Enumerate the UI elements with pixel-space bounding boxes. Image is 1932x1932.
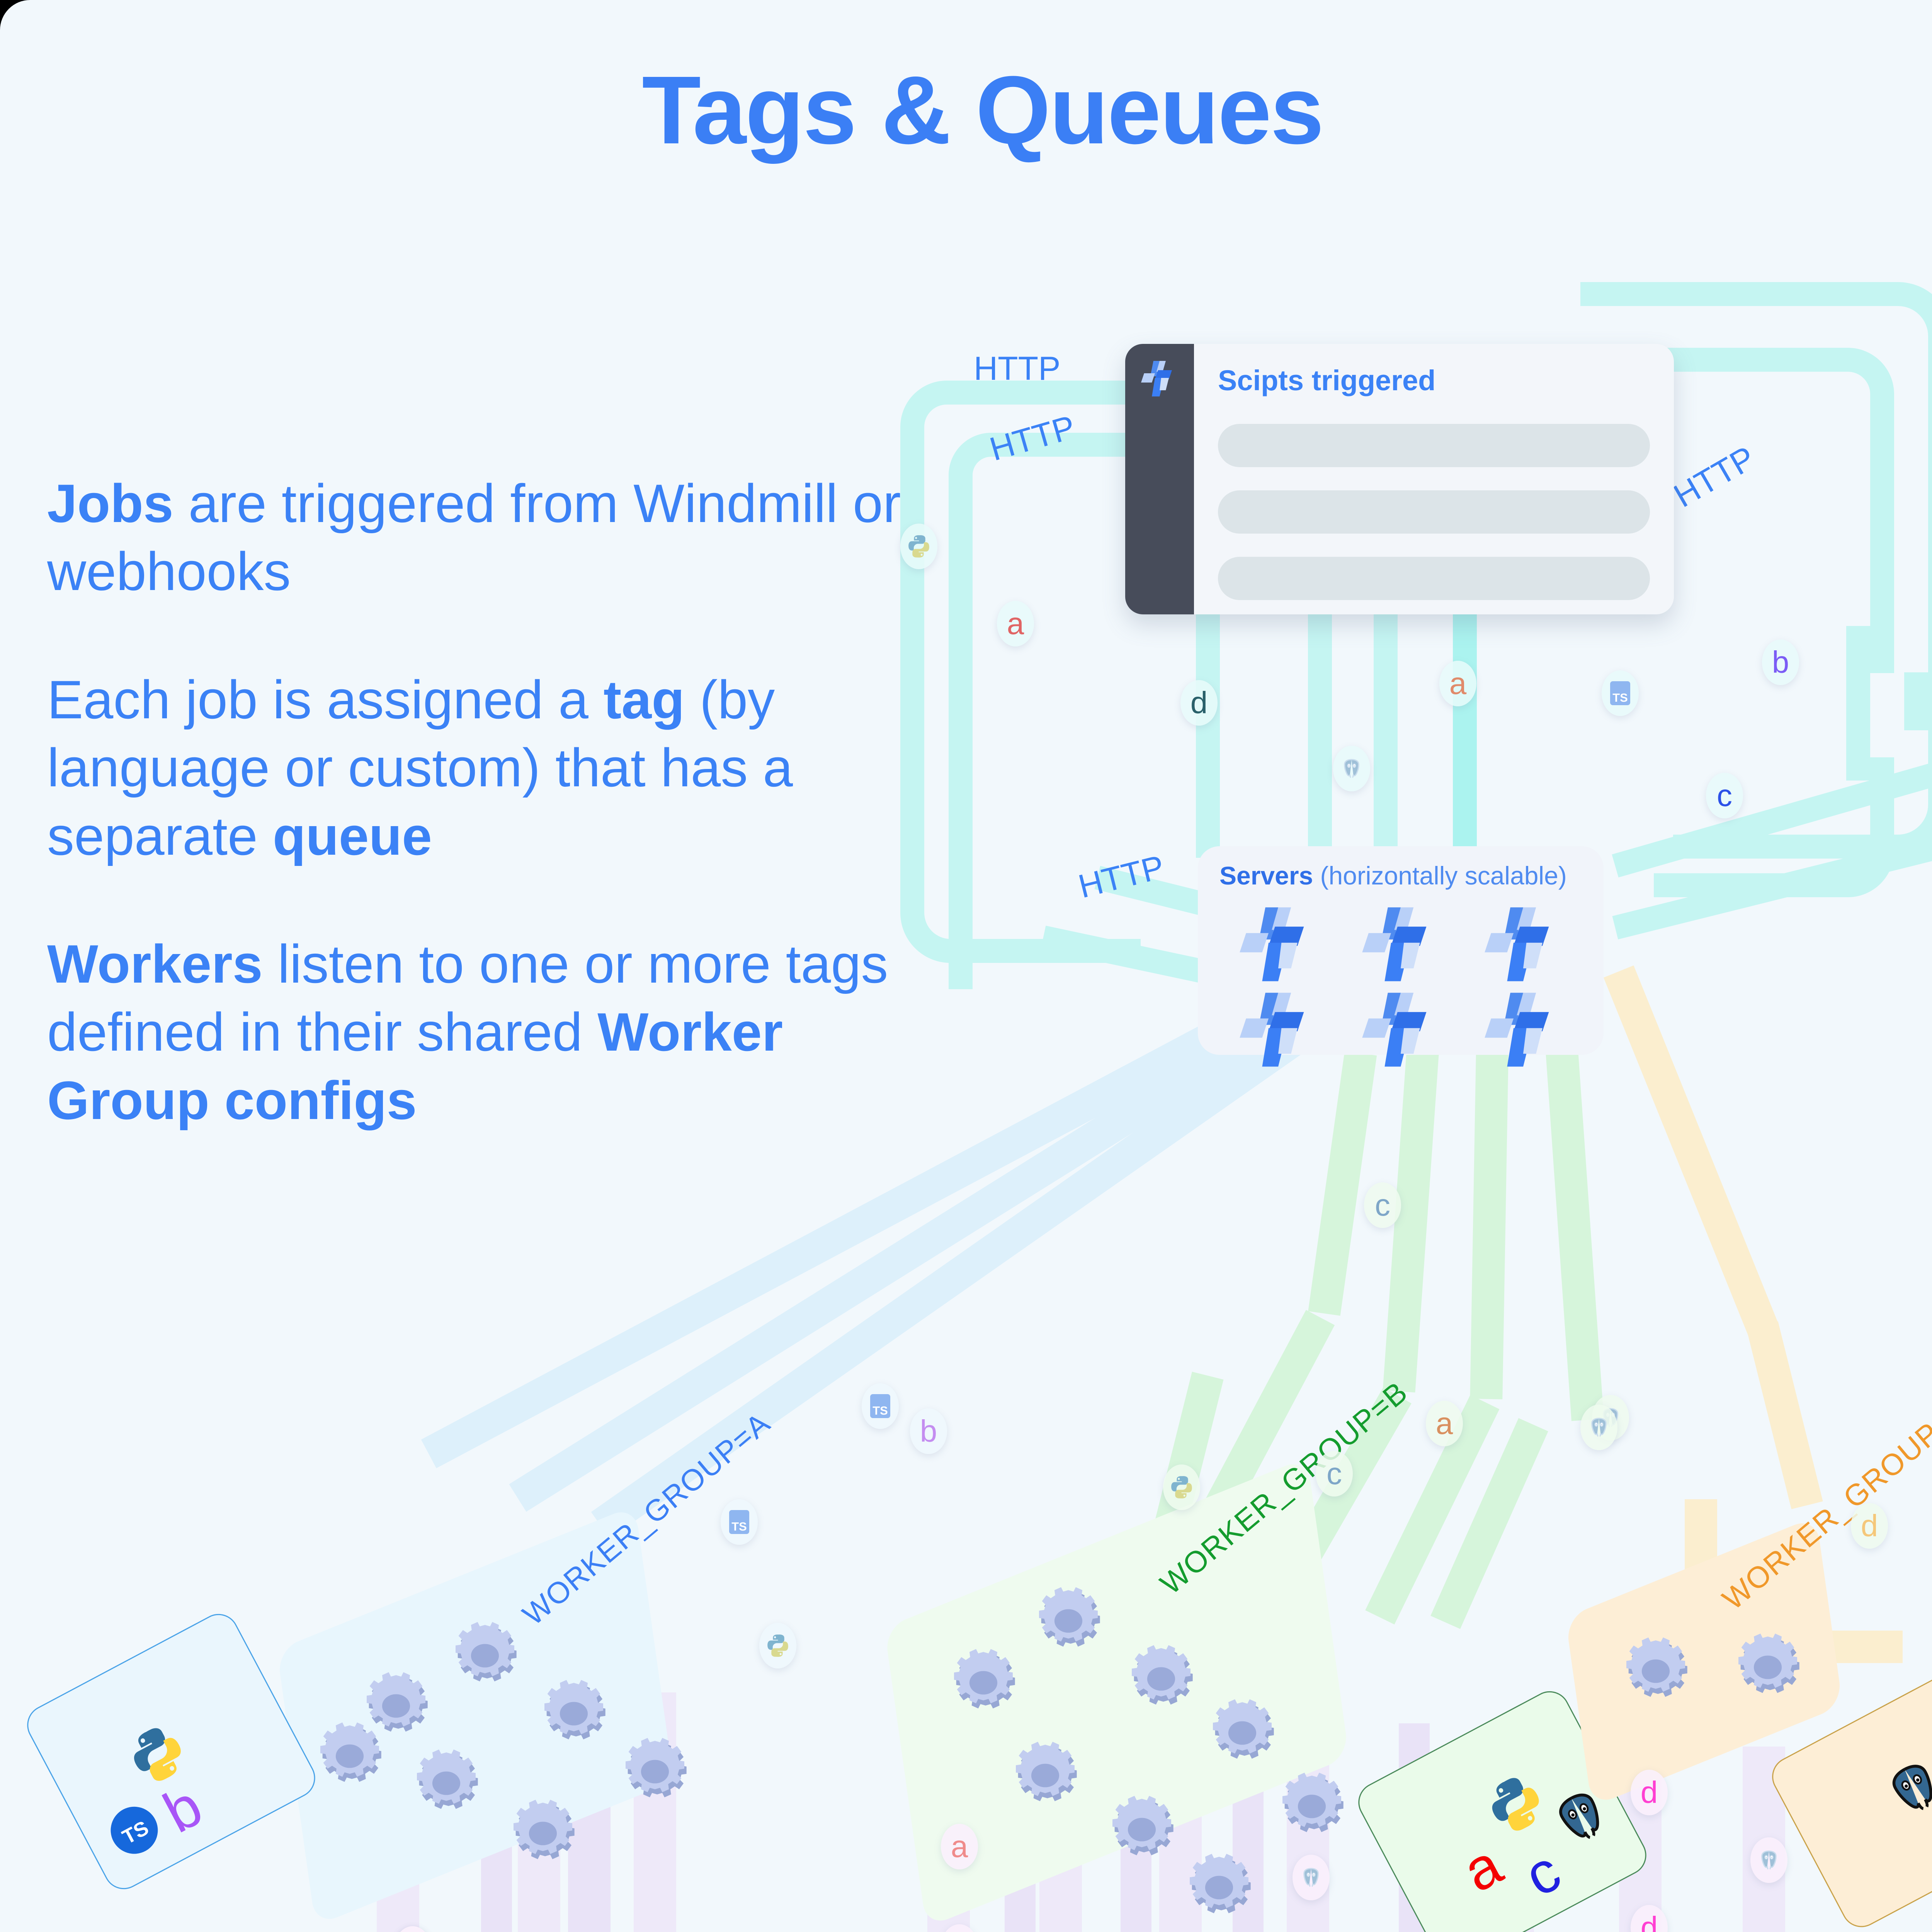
servers-panel: Servers (horizontally scalable) — [1198, 846, 1604, 1055]
card-skeleton-row — [1218, 424, 1650, 467]
badge-b2: b — [910, 1408, 947, 1454]
badge-postgres — [1333, 746, 1370, 791]
typescript-icon: TS — [1610, 681, 1630, 705]
pipe-cyan-right-inner — [1638, 348, 1894, 673]
server-logo — [1485, 990, 1562, 1075]
worker-gear — [618, 1735, 680, 1797]
pipe-cyan-center-2 — [1308, 607, 1332, 862]
postgres-icon — [1876, 1749, 1932, 1828]
servers-title-bold: Servers — [1219, 861, 1313, 890]
pipe-green-b-4 — [1546, 1049, 1604, 1421]
windmill-logo-icon — [1240, 904, 1317, 988]
gear-icon — [947, 1646, 1020, 1719]
copy-gap-2 — [47, 870, 905, 930]
page-title: Tags & Queues — [0, 62, 1932, 158]
badge-a: a — [997, 601, 1034, 646]
gear-icon — [1124, 1642, 1198, 1716]
server-logo — [1240, 904, 1317, 990]
gear-icon — [537, 1677, 611, 1750]
gear-icon — [618, 1735, 692, 1808]
gear-icon — [1009, 1739, 1082, 1812]
python-icon — [906, 534, 932, 559]
server-logo — [1485, 904, 1562, 990]
copy-2-queue: queue — [273, 806, 432, 866]
copy-gap-1 — [47, 606, 905, 666]
badge-b: b — [1762, 639, 1799, 685]
copy-paragraph-2: Each job is assigned a tag (by language … — [47, 666, 905, 870]
copy-2-a: Each job is assigned a — [47, 669, 604, 730]
worker-gear — [1124, 1642, 1186, 1704]
card-body: Scipts triggered — [1194, 344, 1674, 614]
badge-d2: d — [1851, 1503, 1888, 1549]
queue-badge-d1: d — [1631, 1770, 1668, 1815]
gear-icon — [448, 1619, 522, 1692]
badge-ts: TS — [1602, 670, 1639, 716]
gear-icon — [410, 1747, 483, 1820]
worker-gear — [1032, 1584, 1094, 1646]
postgres-icon — [1587, 1415, 1611, 1439]
tag-letter-c: c — [1516, 1841, 1569, 1906]
pipe-green-b-3 — [1470, 1051, 1509, 1399]
servers-title: Servers (horizontally scalable) — [1219, 861, 1567, 890]
postgres-icon — [1340, 757, 1364, 781]
gear-icon — [1206, 1696, 1279, 1770]
copy-1-rest: are triggered from Windmill or webhooks — [47, 473, 901, 602]
postgres-icon — [1876, 1749, 1932, 1829]
badge-c: c — [1706, 773, 1743, 818]
worker-gear — [1731, 1631, 1793, 1692]
worker-gear — [1105, 1793, 1167, 1855]
server-logo — [1362, 904, 1439, 990]
badge-c4: c — [1316, 1451, 1353, 1497]
gear-icon — [1619, 1634, 1692, 1708]
worker-gear — [537, 1677, 599, 1739]
badge-python — [900, 524, 937, 569]
pipe-cyan-center-3 — [1374, 607, 1398, 862]
queue-badge-postgres2 — [1750, 1837, 1787, 1883]
servers-logo-grid — [1217, 904, 1584, 1075]
queue-badge-a: a — [941, 1824, 978, 1869]
worker-gear — [506, 1797, 568, 1859]
badge-c3: c — [1364, 1182, 1401, 1228]
badge-a3: a — [1426, 1401, 1463, 1446]
gear-icon — [1105, 1793, 1179, 1866]
card-sidebar — [1125, 344, 1194, 614]
http-label: HTTP — [974, 350, 1061, 388]
python-icon — [1476, 1765, 1555, 1844]
badge-python3 — [759, 1623, 796, 1668]
servers-title-rest: (horizontally scalable) — [1313, 861, 1567, 890]
copy-1-bold: Jobs — [47, 473, 173, 534]
badge-a2: a — [1439, 661, 1476, 706]
badge-d: d — [1180, 680, 1218, 726]
explainer-copy: Jobs are triggered from Windmill or webh… — [47, 469, 905, 1134]
worker-group-tag-card-a[interactable]: TS b — [20, 1607, 322, 1896]
python-icon — [1169, 1475, 1194, 1500]
python-icon — [765, 1633, 791, 1658]
worker-gear — [1009, 1739, 1070, 1801]
windmill-logo-icon — [1485, 904, 1562, 988]
tag-letter-a: a — [1454, 1835, 1510, 1901]
scripts-triggered-card[interactable]: Scipts triggered — [1125, 344, 1674, 614]
pipe-amber-c-2 — [1747, 1321, 1823, 1509]
windmill-logo-icon — [1362, 990, 1439, 1073]
badge-postgres3 — [1580, 1405, 1617, 1450]
badge-python2 — [1163, 1464, 1200, 1510]
gear-icon — [313, 1719, 386, 1793]
gear-icon — [1731, 1631, 1804, 1704]
badge-ts2: TS — [862, 1383, 899, 1429]
gear-icon — [1275, 1770, 1349, 1843]
windmill-logo-icon — [1485, 990, 1562, 1073]
card-skeleton-row — [1218, 557, 1650, 600]
infographic-canvas: Tags & Queues Jobs are triggered from Wi… — [0, 0, 1932, 1932]
gear-icon — [506, 1797, 580, 1870]
worker-gear — [1275, 1770, 1337, 1832]
worker-gear — [448, 1619, 510, 1681]
pipe-amber-c-1 — [1604, 966, 1778, 1336]
windmill-logo-icon — [1362, 904, 1439, 988]
copy-2-tag: tag — [604, 669, 685, 730]
card-skeleton-row — [1218, 490, 1650, 534]
server-logo — [1240, 990, 1317, 1075]
typescript-icon: TS — [729, 1510, 749, 1534]
worker-gear — [1182, 1851, 1244, 1913]
gear-icon — [1032, 1584, 1105, 1658]
queue-badge-postgres — [1293, 1855, 1330, 1900]
worker-gear — [947, 1646, 1009, 1708]
pipe-green-b-1 — [1308, 1051, 1377, 1316]
worker-gear — [1206, 1696, 1267, 1758]
pipe-cyan-left-inner-stem — [949, 696, 973, 989]
server-logo — [1362, 990, 1439, 1075]
worker-gear — [1619, 1634, 1681, 1696]
copy-3-workers: Workers — [47, 934, 263, 994]
postgres-icon — [1299, 1866, 1323, 1889]
worker-gear — [313, 1719, 375, 1781]
copy-paragraph-1: Jobs are triggered from Windmill or webh… — [47, 469, 905, 606]
worker-gear — [410, 1747, 471, 1808]
windmill-logo-icon — [1240, 990, 1317, 1073]
badge-ts3: TS — [721, 1499, 758, 1545]
card-title: Scipts triggered — [1218, 364, 1650, 397]
typescript-icon: TS — [870, 1394, 890, 1418]
copy-paragraph-3: Workers listen to one or more tags defin… — [47, 930, 905, 1134]
typescript-icon: TS — [100, 1796, 169, 1866]
windmill-logo-icon — [1141, 359, 1178, 400]
postgres-icon — [1757, 1848, 1781, 1872]
gear-icon — [1182, 1851, 1256, 1924]
